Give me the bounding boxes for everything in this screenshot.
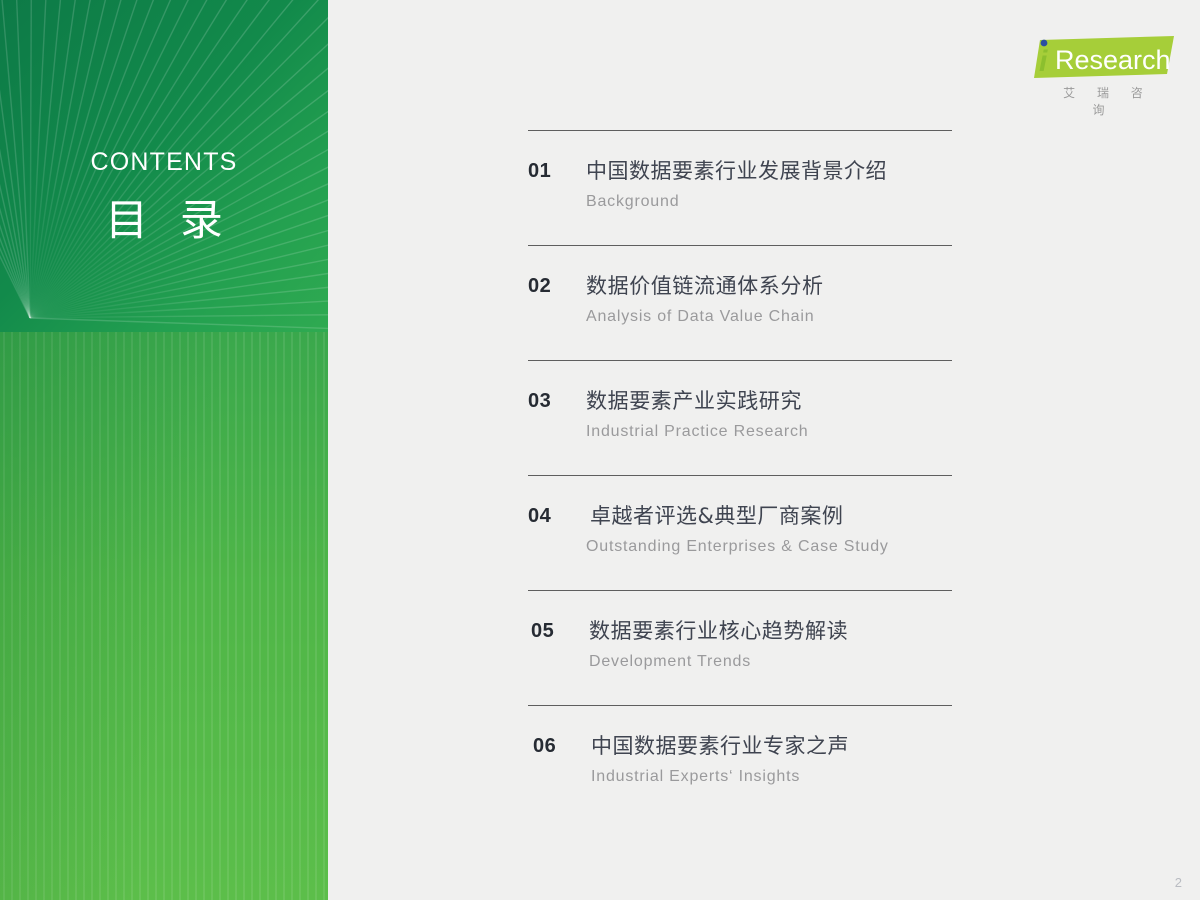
toc-title-cn: 中国数据要素行业发展背景介绍	[586, 157, 887, 185]
panel-shade-overlay	[0, 332, 328, 900]
toc-item-04[interactable]: 04 卓越者评选&典型厂商案例 Outstanding Enterprises …	[528, 475, 952, 590]
toc-number: 03	[528, 387, 586, 415]
toc-title-en: Development Trends	[589, 650, 848, 674]
toc-title-en: Outstanding Enterprises & Case Study	[586, 535, 889, 559]
toc-title-en: Background	[586, 190, 887, 214]
toc-number: 01	[528, 157, 586, 185]
toc-title-cn: 中国数据要素行业专家之声	[591, 732, 849, 760]
toc-item-02[interactable]: 02 数据价值链流通体系分析 Analysis of Data Value Ch…	[528, 245, 952, 360]
toc-number: 06	[533, 732, 591, 760]
toc-title-en: Analysis of Data Value Chain	[586, 305, 824, 329]
logo-letter-i: i	[1039, 45, 1048, 78]
toc-title-en: Industrial Experts‘ Insights	[591, 765, 849, 789]
contents-heading-block: CONTENTS 目 录	[0, 150, 328, 243]
toc-number: 02	[528, 272, 586, 300]
toc-title-cn: 数据价值链流通体系分析	[586, 272, 824, 300]
toc-title-cn: 卓越者评选&典型厂商案例	[586, 502, 889, 530]
panel-top-ray-section: CONTENTS 目 录	[0, 0, 328, 332]
toc-title-cn: 数据要素产业实践研究	[586, 387, 809, 415]
contents-label-cn: 目 录	[0, 200, 328, 243]
toc-title-cn: 数据要素行业核心趋势解读	[589, 617, 848, 645]
left-decorative-panel: CONTENTS 目 录	[0, 0, 328, 900]
toc-title-en: Industrial Practice Research	[586, 420, 809, 444]
toc-item-05[interactable]: 05 数据要素行业核心趋势解读 Development Trends	[528, 590, 952, 705]
iresearch-logo: i Research 艾 瑞 咨 询	[1022, 34, 1174, 106]
toc-number: 05	[531, 617, 589, 645]
page-number: 2	[1175, 875, 1182, 890]
toc-number: 04	[528, 502, 586, 530]
logo-research-text: Research	[1055, 45, 1171, 75]
toc-item-06[interactable]: 06 中国数据要素行业专家之声 Industrial Experts‘ Insi…	[528, 705, 952, 820]
slide-contents-page: CONTENTS 目 录 i Research 艾 瑞 咨 询 01	[0, 0, 1200, 900]
logo-chinese-subtitle: 艾 瑞 咨 询	[1038, 84, 1168, 118]
table-of-contents-list: 01 中国数据要素行业发展背景介绍 Background 02 数据价值链流通体…	[528, 130, 952, 820]
contents-label-en: CONTENTS	[0, 150, 328, 175]
panel-bottom-stripe-section	[0, 332, 328, 900]
logo-mark: i Research	[1022, 34, 1174, 80]
logo-wordmark-icon: i Research	[1022, 34, 1174, 80]
toc-item-03[interactable]: 03 数据要素产业实践研究 Industrial Practice Resear…	[528, 360, 952, 475]
toc-item-01[interactable]: 01 中国数据要素行业发展背景介绍 Background	[528, 130, 952, 245]
